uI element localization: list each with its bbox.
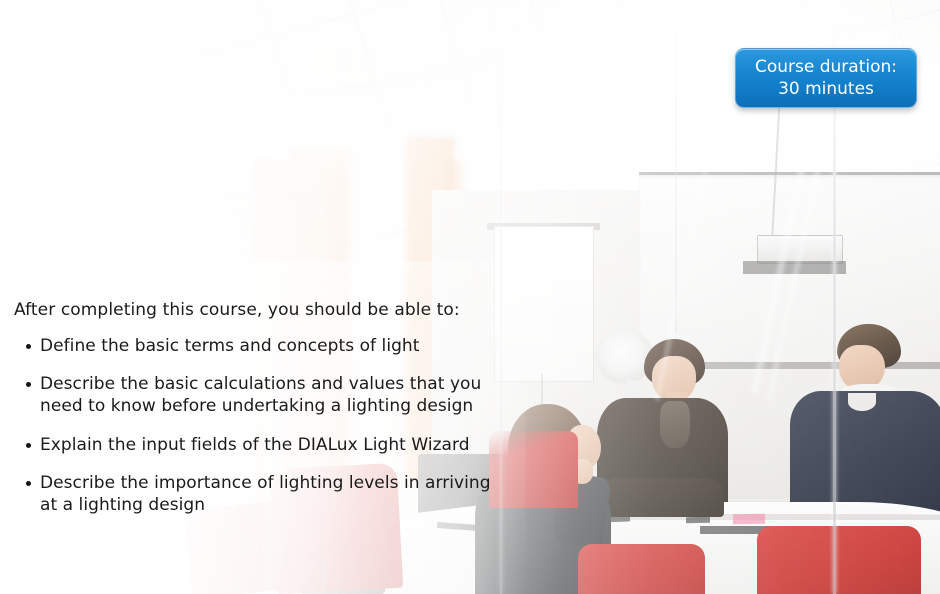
slide-canvas: After completing this course, you should… xyxy=(0,0,940,594)
chair-leg xyxy=(322,573,324,594)
objective-item: Describe the importance of lighting leve… xyxy=(14,472,500,516)
person-right-shirt-v xyxy=(848,393,876,411)
person-center-shirt xyxy=(660,401,690,449)
phone-on-table xyxy=(686,517,711,523)
red-chair xyxy=(757,526,922,594)
objective-item: Explain the input fields of the DIALux L… xyxy=(14,434,500,456)
badge-line-1: Course duration: xyxy=(746,56,906,78)
course-duration-badge: Course duration: 30 minutes xyxy=(735,48,917,108)
sticky-note xyxy=(733,514,765,525)
objectives-block: After completing this course, you should… xyxy=(14,300,514,532)
red-chair xyxy=(578,544,705,594)
person-center-folded-arms xyxy=(602,478,724,517)
objective-item: Describe the basic calculations and valu… xyxy=(14,373,500,417)
glass-mullion xyxy=(675,0,677,333)
objectives-list: Define the basic terms and concepts of l… xyxy=(14,335,514,516)
badge-line-2: 30 minutes xyxy=(746,78,906,100)
lead-text: After completing this course, you should… xyxy=(14,300,514,321)
objective-item: Define the basic terms and concepts of l… xyxy=(14,335,500,357)
